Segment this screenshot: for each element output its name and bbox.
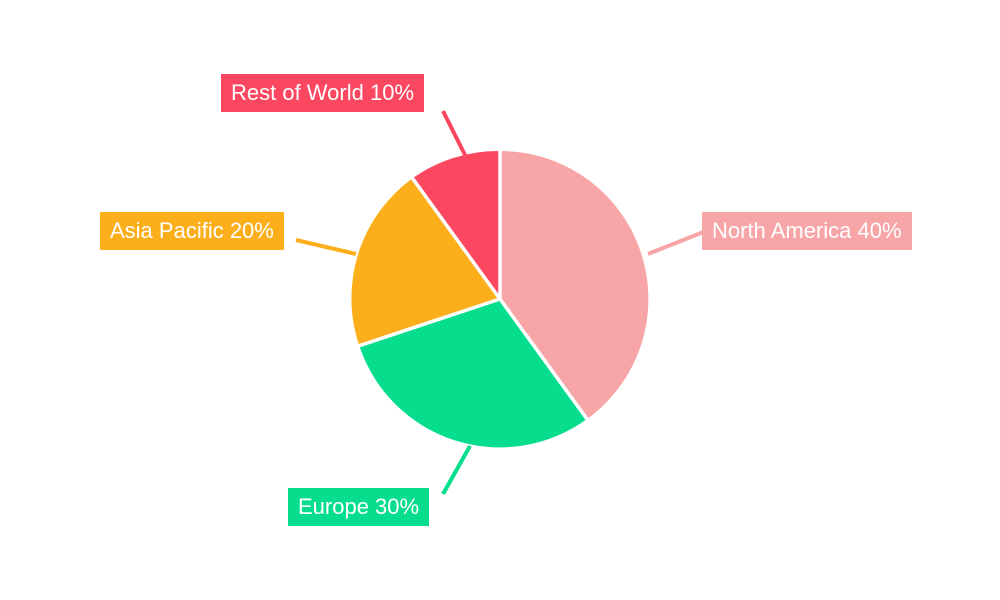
pie-label-asia-pacific-text: Asia Pacific 20% xyxy=(110,220,274,242)
pie-label-rest-of-world-text: Rest of World 10% xyxy=(231,82,414,104)
pie-label-north-america[interactable]: North America 40% xyxy=(702,212,912,250)
pie-label-north-america-text: North America 40% xyxy=(712,220,902,242)
pie-label-europe[interactable]: Europe 30% xyxy=(288,488,429,526)
pie-chart-figure: North America 40% Europe 30% Asia Pacifi… xyxy=(0,0,1000,600)
pie-label-rest-of-world[interactable]: Rest of World 10% xyxy=(221,74,424,112)
leader-line-rest-of-world xyxy=(443,111,466,157)
pie-label-europe-text: Europe 30% xyxy=(298,496,419,518)
pie-label-asia-pacific[interactable]: Asia Pacific 20% xyxy=(100,212,284,250)
leader-line-north-america xyxy=(648,231,706,254)
pie-chart-canvas xyxy=(0,0,1000,600)
leader-line-europe xyxy=(443,446,470,494)
leader-line-asia-pacific xyxy=(296,240,356,254)
